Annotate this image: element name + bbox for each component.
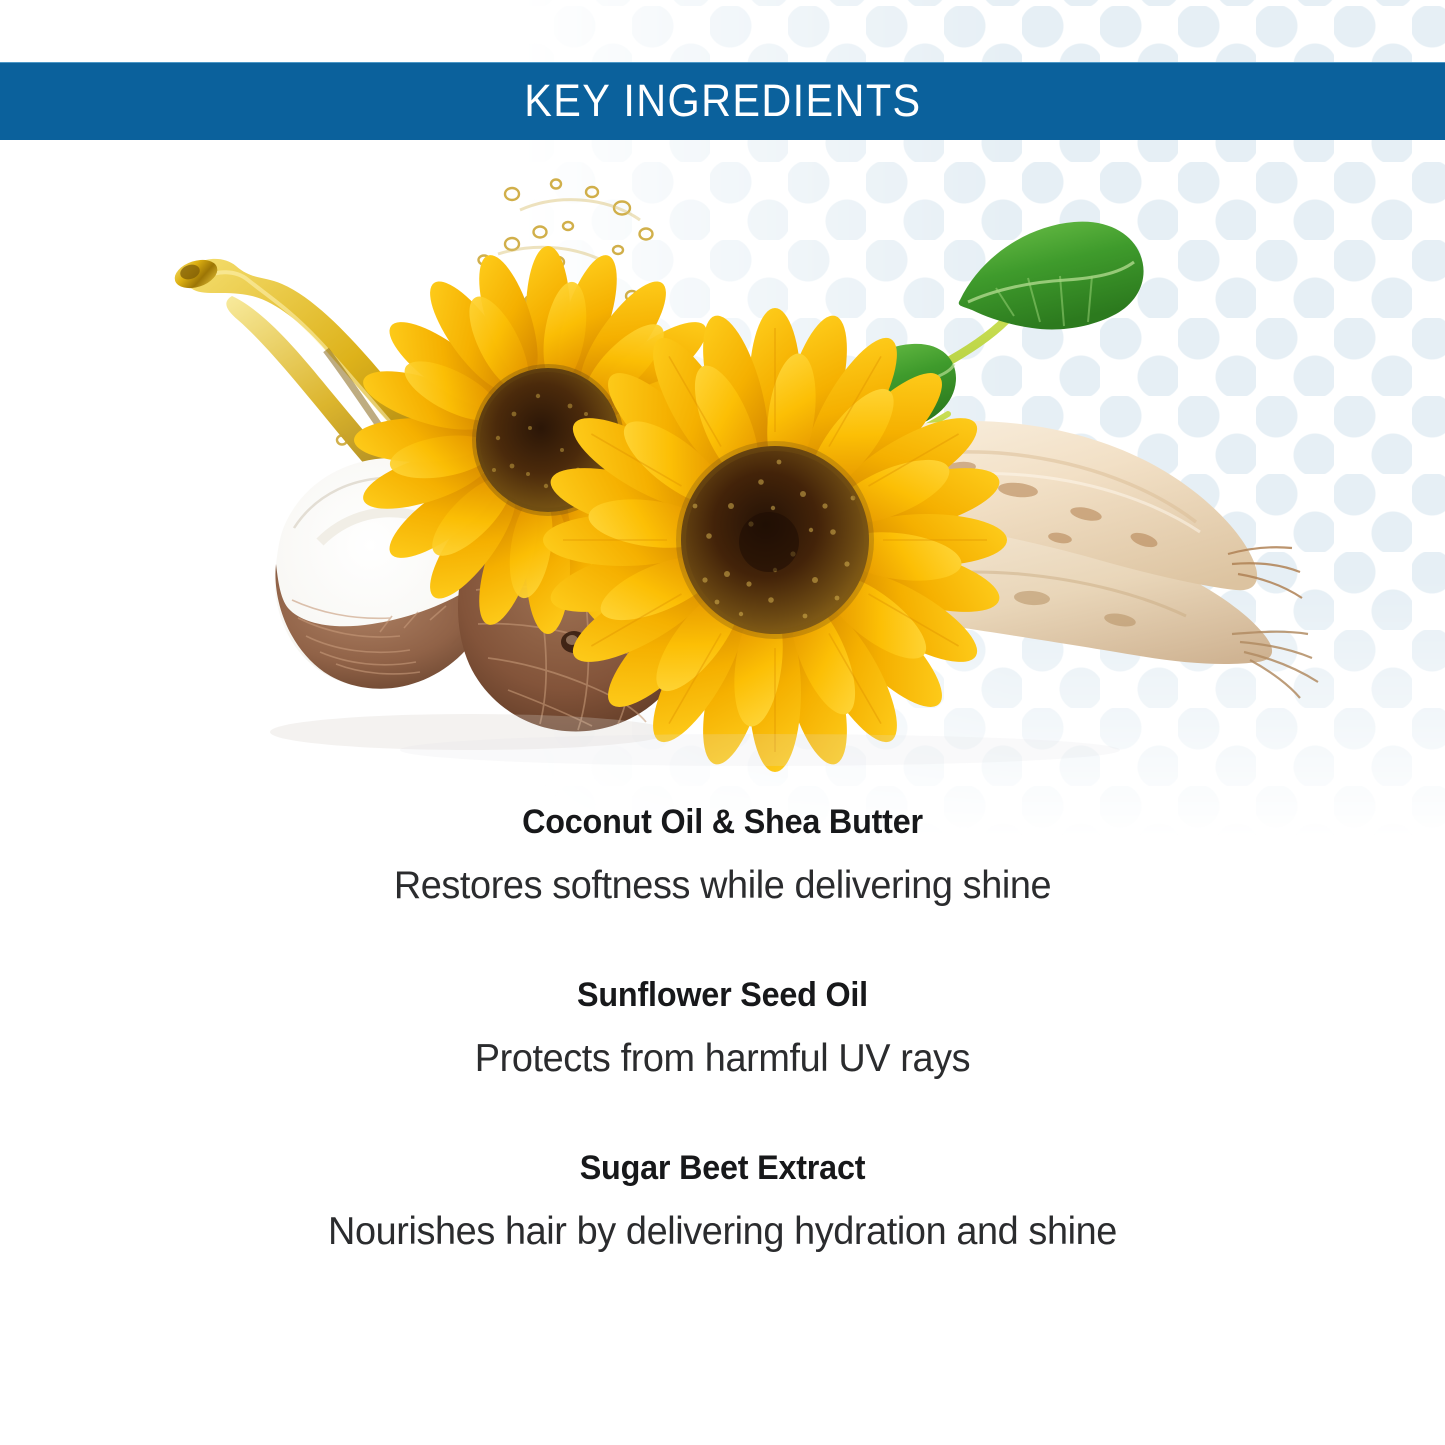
key-ingredients-page: KEY INGREDIENTS <box>0 0 1445 1445</box>
ingredient-name: Sunflower Seed Oil <box>36 973 1409 1017</box>
ingredient-description: Restores softness while delivering shine <box>22 862 1424 911</box>
banner-title: KEY INGREDIENTS <box>524 75 921 127</box>
ingredient-item: Sunflower Seed Oil Protects from harmful… <box>0 973 1445 1084</box>
ingredients-hero-image <box>0 150 1445 790</box>
sunflower-front <box>543 308 1007 772</box>
ingredient-item: Coconut Oil & Shea Butter Restores softn… <box>0 800 1445 911</box>
ingredient-description: Protects from harmful UV rays <box>22 1035 1424 1084</box>
ingredient-name: Coconut Oil & Shea Butter <box>36 800 1409 844</box>
ingredient-description: Nourishes hair by delivering hydration a… <box>22 1208 1424 1257</box>
ingredients-list: Coconut Oil & Shea Butter Restores softn… <box>0 800 1445 1257</box>
ingredient-item: Sugar Beet Extract Nourishes hair by del… <box>0 1146 1445 1257</box>
hero-illustration <box>0 150 1445 790</box>
ingredient-name: Sugar Beet Extract <box>36 1146 1409 1190</box>
key-ingredients-banner: KEY INGREDIENTS <box>0 62 1445 140</box>
